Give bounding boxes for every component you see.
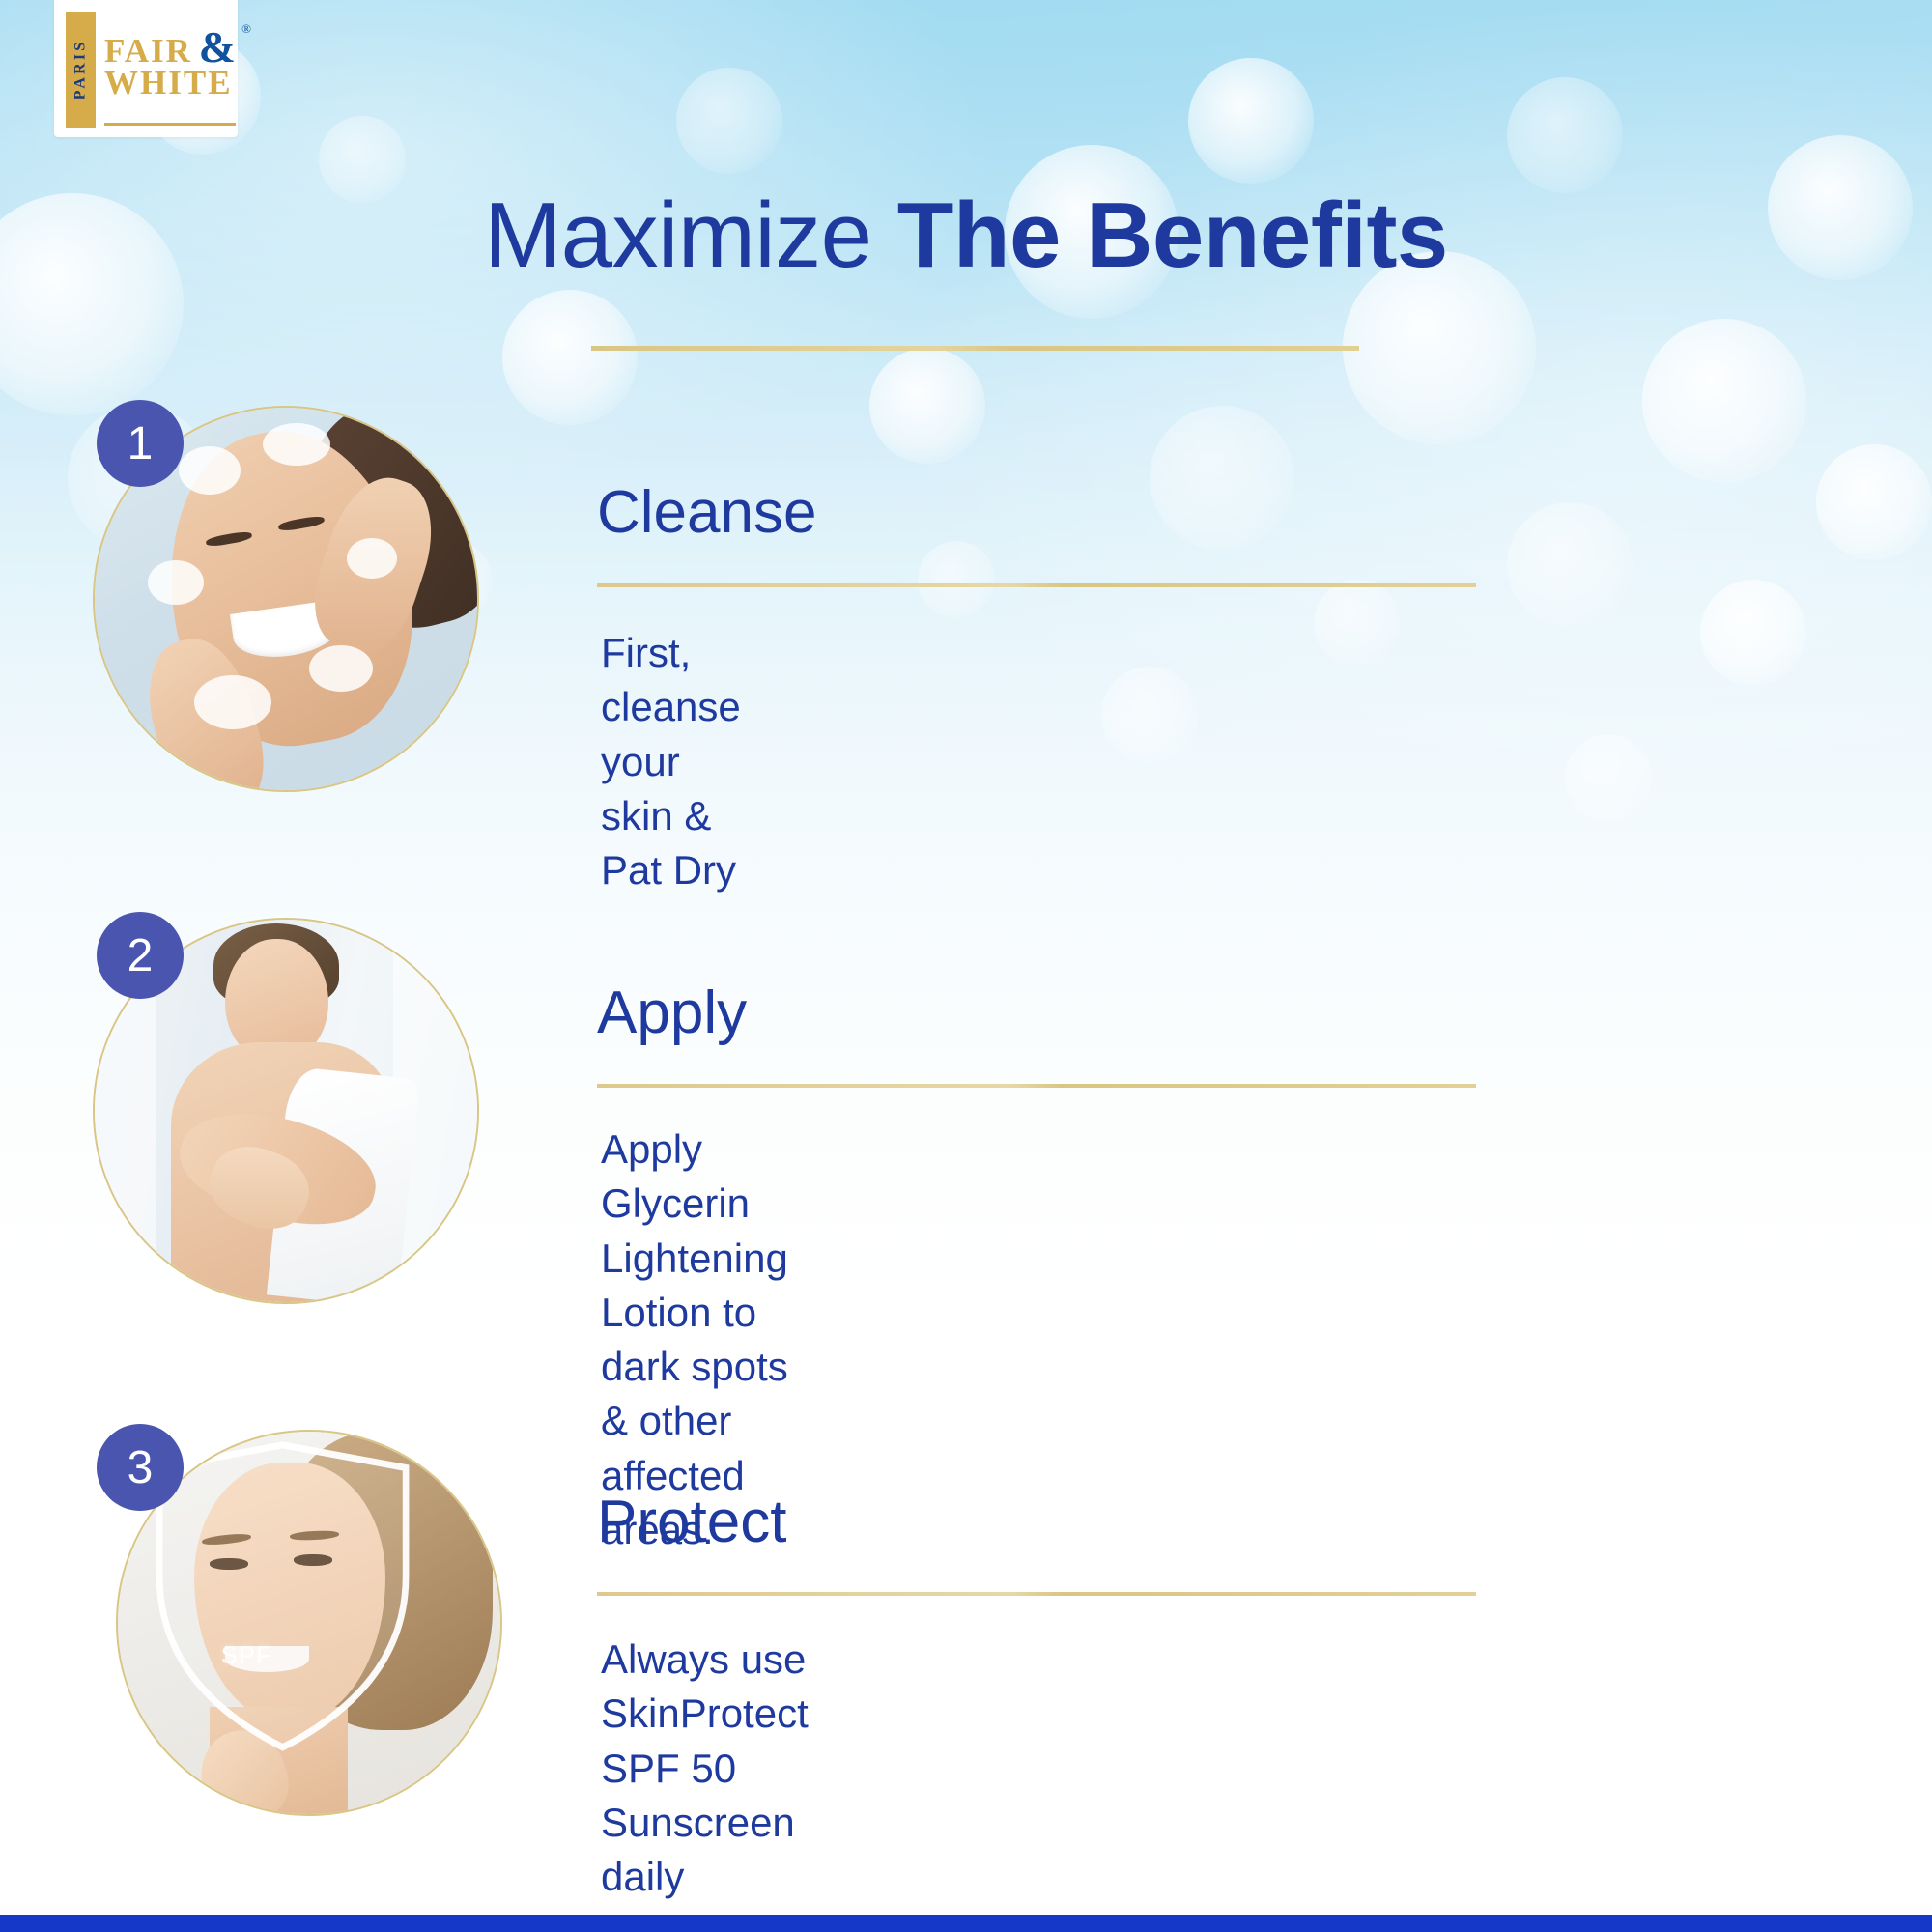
brand-paris-bar: PARIS (66, 12, 96, 128)
spf-shield-icon (149, 1439, 416, 1753)
brand-gold-underline (104, 123, 236, 126)
step-1-heading: Cleanse (597, 483, 816, 543)
page-title-bold: The Benefits (897, 184, 1448, 287)
infographic-canvas: PARIS FAIR & ® WHITE Maximize The Benefi… (0, 0, 1932, 1932)
step-2-number-badge: 2 (97, 912, 184, 999)
page-title: Maximize The Benefits (0, 189, 1932, 282)
spf-label: SPF (221, 1642, 272, 1670)
step-2-gold-divider (597, 1084, 1476, 1088)
brand-paris-text: PARIS (72, 40, 90, 100)
step-1-body: First, cleanse your skin & Pat Dry (601, 626, 741, 897)
page-title-light: Maximize (484, 184, 897, 287)
brand-ampersand: & (199, 25, 238, 70)
step-1-number-badge: 1 (97, 400, 184, 487)
step-3-number-badge: 3 (97, 1424, 184, 1511)
step-3-number: 3 (128, 1441, 154, 1494)
brand-logo: PARIS FAIR & ® WHITE (54, 0, 238, 137)
step-3-body: Always use SkinProtect SPF 50 Sunscreen … (601, 1633, 809, 1932)
step-3-gold-divider (597, 1592, 1476, 1596)
bottom-accent-bar (0, 1915, 1932, 1932)
brand-fair-line: FAIR & ® (104, 35, 232, 67)
step-3-heading: Protect (597, 1492, 786, 1552)
brand-registered-mark: ® (241, 23, 253, 35)
title-gold-divider (591, 346, 1359, 351)
brand-fair-text: FAIR (104, 32, 192, 70)
step-1-gold-divider (597, 583, 1476, 587)
step-1-number: 1 (128, 417, 154, 470)
step-2-heading: Apply (597, 983, 747, 1043)
step-2-number: 2 (128, 929, 154, 982)
brand-white-text: WHITE (104, 67, 232, 99)
